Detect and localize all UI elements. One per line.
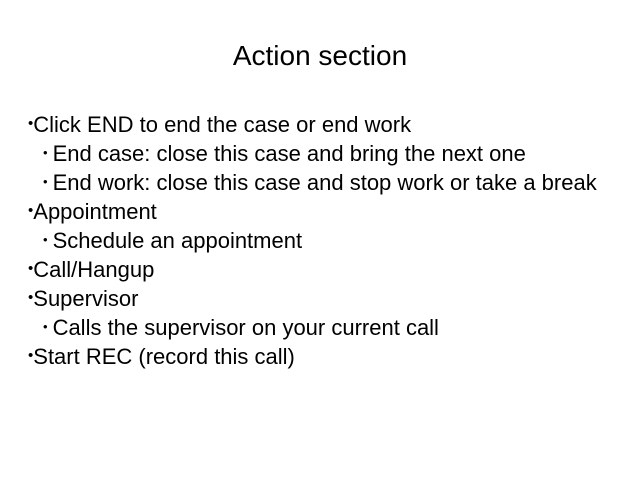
list-item[interactable]: • End case: close this case and bring th… — [28, 139, 620, 168]
list-item[interactable]: • End work: close this case and stop wor… — [28, 168, 620, 197]
list-item-label: Call/Hangup — [33, 255, 620, 284]
list-item[interactable]: • Calls the supervisor on your current c… — [28, 313, 620, 342]
list-item[interactable]: • Click END to end the case or end work — [28, 110, 620, 139]
list-item[interactable]: • Supervisor — [28, 284, 620, 313]
list-item[interactable]: • Appointment — [28, 197, 620, 226]
bullet-point-icon: • — [28, 196, 33, 225]
list-item-label: Appointment — [33, 197, 620, 226]
bullet-point-icon: • — [28, 254, 33, 283]
bullet-list: • Click END to end the case or end work … — [28, 110, 620, 371]
list-item[interactable]: • Start REC (record this call) — [28, 342, 620, 371]
bullet-point-icon: • — [28, 109, 33, 138]
list-item[interactable]: • Call/Hangup — [28, 255, 620, 284]
list-item-label: End case: close this case and bring the … — [53, 139, 616, 168]
bullet-point-icon: • — [43, 138, 53, 167]
bullet-point-icon: • — [28, 341, 33, 370]
list-item-label: Schedule an appointment — [53, 226, 616, 255]
list-item-label: Calls the supervisor on your current cal… — [53, 313, 616, 342]
bullet-point-icon: • — [43, 312, 53, 341]
list-item-label: Supervisor — [33, 284, 620, 313]
list-item-label: Start REC (record this call) — [33, 342, 620, 371]
bullet-point-icon: • — [43, 167, 53, 196]
bullet-point-icon: • — [43, 225, 53, 254]
list-item-label: Click END to end the case or end work — [33, 110, 620, 139]
slide-canvas: Action section • Click END to end the ca… — [0, 0, 640, 480]
list-item-label: End work: close this case and stop work … — [53, 168, 616, 197]
list-item[interactable]: • Schedule an appointment — [28, 226, 620, 255]
page-title: Action section — [0, 39, 640, 73]
bullet-point-icon: • — [28, 283, 33, 312]
